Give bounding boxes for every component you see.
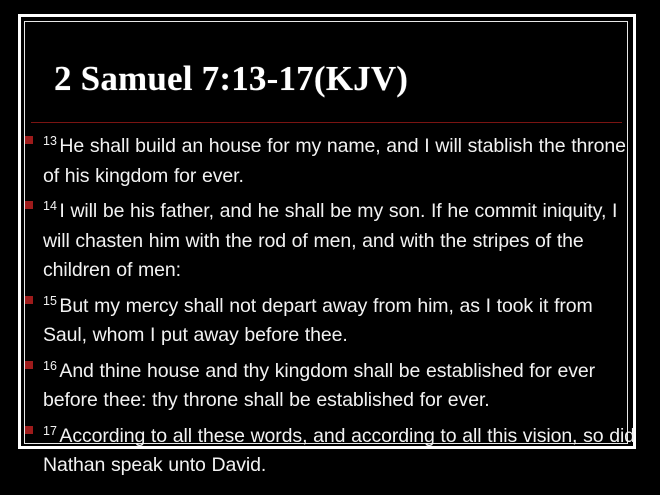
verse-text: 14I will be his father, and he shall be … [43,192,636,286]
square-bullet-icon [25,296,33,304]
list-item: 15But my mercy shall not depart away fro… [24,287,636,351]
verse-body: According to all these words, and accord… [43,425,635,477]
square-bullet-icon [25,201,33,209]
slide-title-block: 2 Samuel 7:13-17(KJV) [54,58,614,100]
verse-body: I will be his father, and he shall be my… [43,200,617,281]
square-bullet-icon [25,136,33,144]
title-divider [31,122,622,123]
list-item: 16And thine house and thy kingdom shall … [24,352,636,416]
presentation-slide: 2 Samuel 7:13-17(KJV) 13He shall build a… [0,0,660,495]
verse-list: 13He shall build an house for my name, a… [24,127,636,482]
verse-number: 15 [43,294,59,308]
verse-text: 13He shall build an house for my name, a… [43,127,636,191]
list-item: 13He shall build an house for my name, a… [24,127,636,191]
list-item: 14I will be his father, and he shall be … [24,192,636,286]
verse-number: 17 [43,424,59,438]
verse-text: 17According to all these words, and acco… [43,417,636,481]
verse-number: 16 [43,359,59,373]
square-bullet-icon [25,361,33,369]
verse-number: 13 [43,134,59,148]
square-bullet-icon [25,426,33,434]
page-title: 2 Samuel 7:13-17(KJV) [54,58,614,100]
verse-text: 16And thine house and thy kingdom shall … [43,352,636,416]
list-item: 17According to all these words, and acco… [24,417,636,481]
verse-body: But my mercy shall not depart away from … [43,295,593,347]
verse-number: 14 [43,199,59,213]
verse-body: And thine house and thy kingdom shall be… [43,360,595,412]
verse-body: He shall build an house for my name, and… [43,135,626,187]
verse-text: 15But my mercy shall not depart away fro… [43,287,636,351]
